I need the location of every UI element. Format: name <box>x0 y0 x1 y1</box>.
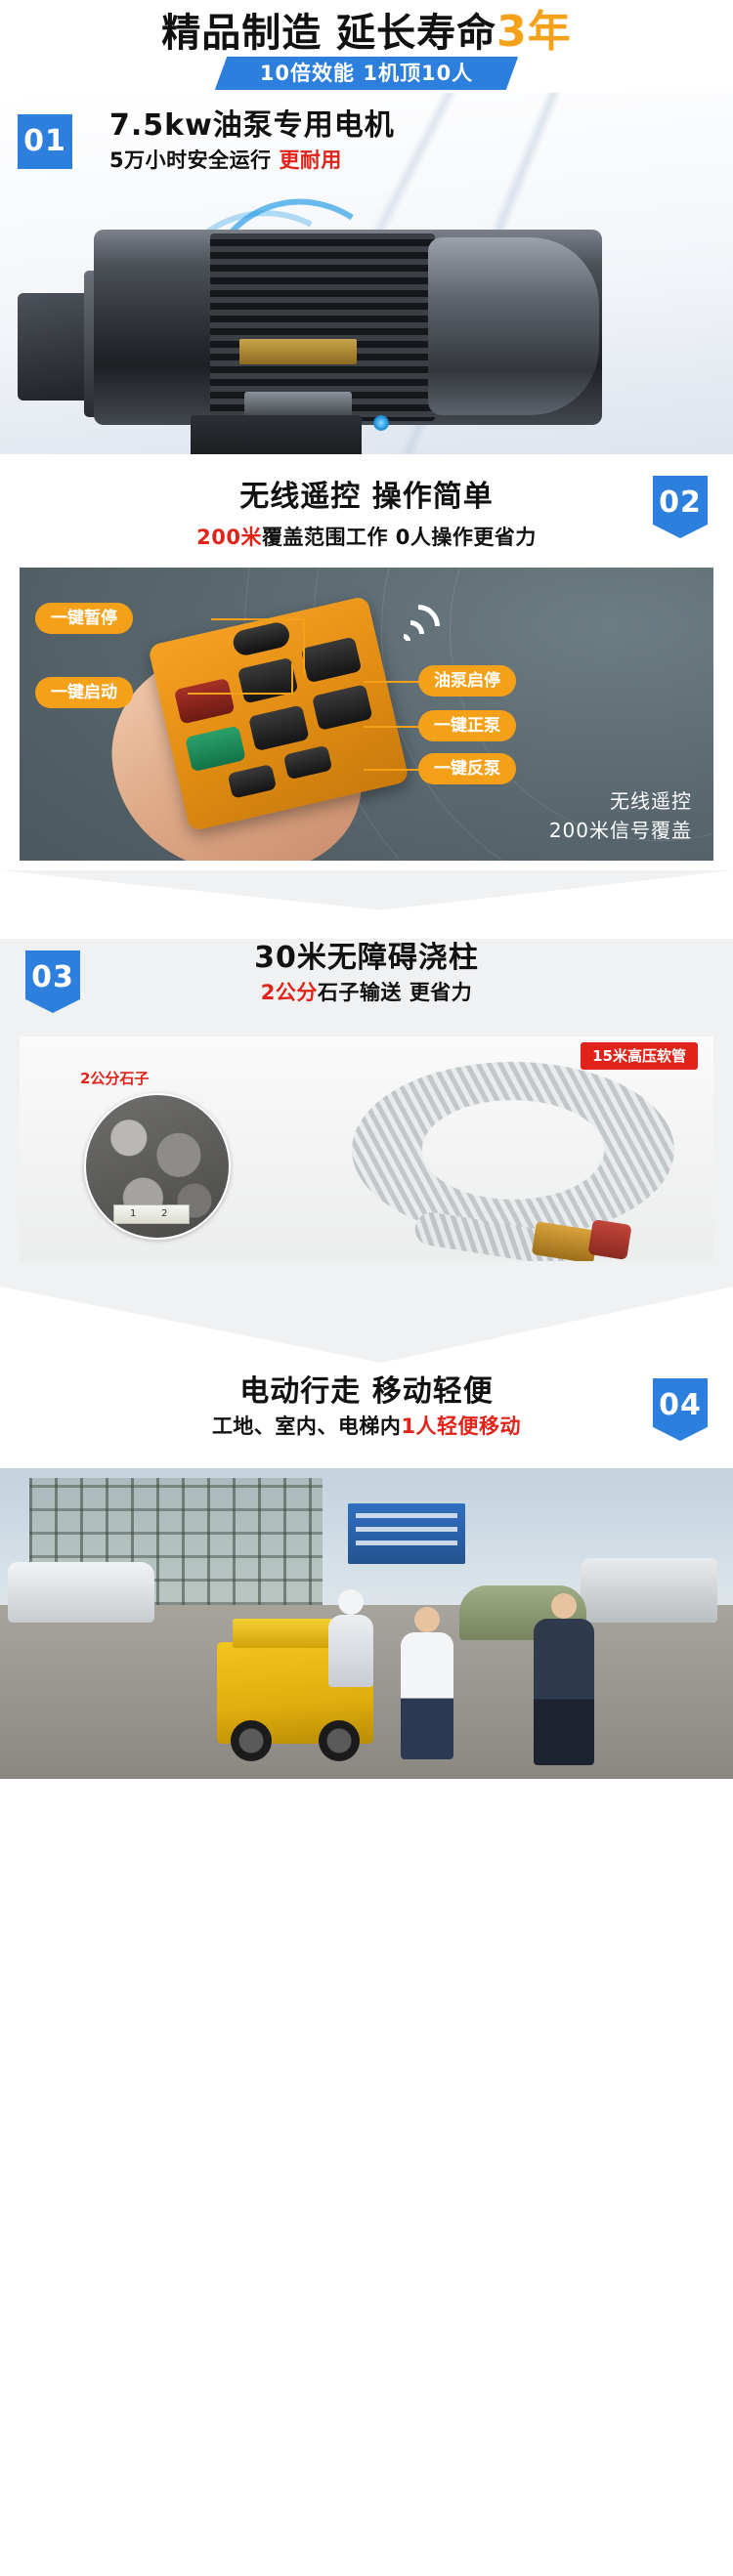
callout-leader-line <box>303 618 305 675</box>
remote-control-photo: 一键暂停 一键启动 油泵启停 一键正泵 一键反泵 无线遥控 200米信号覆盖 <box>20 568 713 861</box>
site-worker <box>328 1615 373 1687</box>
section-02-header: 02 无线遥控 操作简单 200米覆盖范围工作 0人操作更省力 <box>0 472 733 560</box>
callout-leader-line <box>364 726 420 728</box>
callout-pause: 一键暂停 <box>35 603 133 634</box>
remote-photo-caption: 无线遥控 200米信号覆盖 <box>549 786 692 845</box>
section-04-mobility: 04 电动行走 移动轻便 工地、室内、电梯内1人轻便移动 <box>0 1363 733 1779</box>
motor-nameplate <box>239 339 357 364</box>
remote-button-spare-3 <box>228 764 278 799</box>
section-01-subtitle-accent: 更耐用 <box>279 148 342 172</box>
remote-button-spare-2 <box>312 684 373 731</box>
motor-end-cap <box>428 237 599 415</box>
section-01-motor: 01 7.5kw油泵专用电机 5万小时安全运行 更耐用 <box>0 93 733 454</box>
page-title-main: 精品制造 延长寿命 <box>161 11 496 56</box>
section-03-subtitle-plain: 石子输送 更省力 <box>318 981 472 1004</box>
construction-site-photo <box>0 1468 733 1779</box>
site-worker <box>534 1619 594 1765</box>
section-03-body: 03 30米无障碍浇柱 2公分石子输送 更省力 15米高压软管 2公分石子 1 … <box>0 939 733 1287</box>
site-worker <box>401 1632 453 1759</box>
callout-leader-line <box>291 663 293 695</box>
header-banner: 10倍效能 1机顶10人 <box>215 57 518 90</box>
section-03-title: 30米无障碍浇柱 <box>0 939 733 978</box>
section-01-title: 7.5kw油泵专用电机 <box>109 106 395 146</box>
remote-button-spare-1 <box>248 704 310 751</box>
section-02-subtitle-accent: 200米 <box>196 526 262 549</box>
hose-and-gravel-photo: 15米高压软管 2公分石子 1 2 <box>20 1036 713 1261</box>
section-04-subtitle-plain: 工地、室内、电梯内 <box>212 1415 402 1438</box>
machine-hopper <box>233 1619 338 1648</box>
callout-pump-toggle: 油泵启停 <box>418 665 516 697</box>
callout-forward-pump: 一键正泵 <box>418 710 516 741</box>
site-white-van <box>8 1562 154 1623</box>
remote-button-start <box>185 726 246 773</box>
section-03-header: 03 30米无障碍浇柱 2公分石子输送 更省力 <box>0 939 733 1033</box>
tag-gravel-size: 2公分石子 <box>80 1068 149 1088</box>
site-truck <box>581 1558 717 1623</box>
wifi-signal-icon <box>369 603 424 648</box>
ruler-scale: 1 2 <box>113 1204 190 1224</box>
page-title: 精品制造 延长寿命3年 <box>0 8 733 58</box>
callout-leader-line <box>188 693 293 695</box>
section-01-subtitle: 5万小时安全运行 更耐用 <box>109 146 395 175</box>
page-title-accent: 3年 <box>496 7 572 57</box>
worker-head <box>551 1593 577 1619</box>
section-02-subtitle-plain: 覆盖范围工作 0人操作更省力 <box>262 526 537 549</box>
machine-wheel <box>319 1720 360 1761</box>
worker-head <box>414 1607 440 1632</box>
ruler-mark-2: 2 <box>161 1208 167 1219</box>
section-badge-01: 01 <box>18 114 72 169</box>
section-03-subtitle-accent: 2公分 <box>261 981 318 1004</box>
section-04-title: 电动行走 移动轻便 <box>0 1372 733 1412</box>
highlight-glow-icon <box>373 415 389 431</box>
remote-button-reverse <box>301 637 363 684</box>
ruler-mark-1: 1 <box>130 1208 136 1219</box>
remote-button-spare-4 <box>283 745 333 781</box>
remote-photo-caption-line2: 200米信号覆盖 <box>549 816 692 845</box>
section-02-subtitle: 200米覆盖范围工作 0人操作更省力 <box>0 517 733 552</box>
callout-leader-line <box>364 681 420 683</box>
hose-coupler-red <box>587 1219 631 1260</box>
section-01-text: 7.5kw油泵专用电机 5万小时安全运行 更耐用 <box>109 106 395 175</box>
remote-joystick <box>231 620 291 657</box>
coiled-hose-image <box>352 1062 674 1238</box>
section-03-subtitle: 2公分石子输送 更省力 <box>0 978 733 1007</box>
section-04-subtitle: 工地、室内、电梯内1人轻便移动 <box>0 1412 733 1441</box>
product-detail-page: 精品制造 延长寿命3年 10倍效能 1机顶10人 01 7.5kw油泵专用电机 … <box>0 0 733 2576</box>
motor-base <box>191 415 362 454</box>
tag-high-pressure-hose: 15米高压软管 <box>581 1042 698 1070</box>
remote-button-stop <box>174 678 236 725</box>
section-04-header: 04 电动行走 移动轻便 工地、室内、电梯内1人轻便移动 <box>0 1372 733 1462</box>
section-01-subtitle-plain: 5万小时安全运行 <box>109 148 279 172</box>
section-04-subtitle-accent: 1人轻便移动 <box>401 1415 521 1438</box>
remote-button-pump-toggle <box>237 657 299 704</box>
remote-photo-caption-line1: 无线遥控 <box>549 786 692 816</box>
callout-leader-line <box>211 618 305 620</box>
callout-reverse-pump: 一键反泵 <box>418 753 516 784</box>
callout-start: 一键启动 <box>35 677 133 708</box>
machine-wheel <box>231 1720 272 1761</box>
page-header: 精品制造 延长寿命3年 10倍效能 1机顶10人 <box>0 0 733 93</box>
worker-helmet-icon <box>338 1589 364 1615</box>
wedge-divider-bottom <box>0 1287 733 1363</box>
section-02-remote: 02 无线遥控 操作简单 200米覆盖范围工作 0人操作更省力 <box>0 454 733 861</box>
section-02-title: 无线遥控 操作简单 <box>0 472 733 517</box>
site-signboard <box>348 1503 465 1564</box>
wedge-divider-top <box>0 870 733 939</box>
callout-leader-line <box>364 769 420 771</box>
section-03-hose: 03 30米无障碍浇柱 2公分石子输送 更省力 15米高压软管 2公分石子 1 … <box>0 861 733 1363</box>
